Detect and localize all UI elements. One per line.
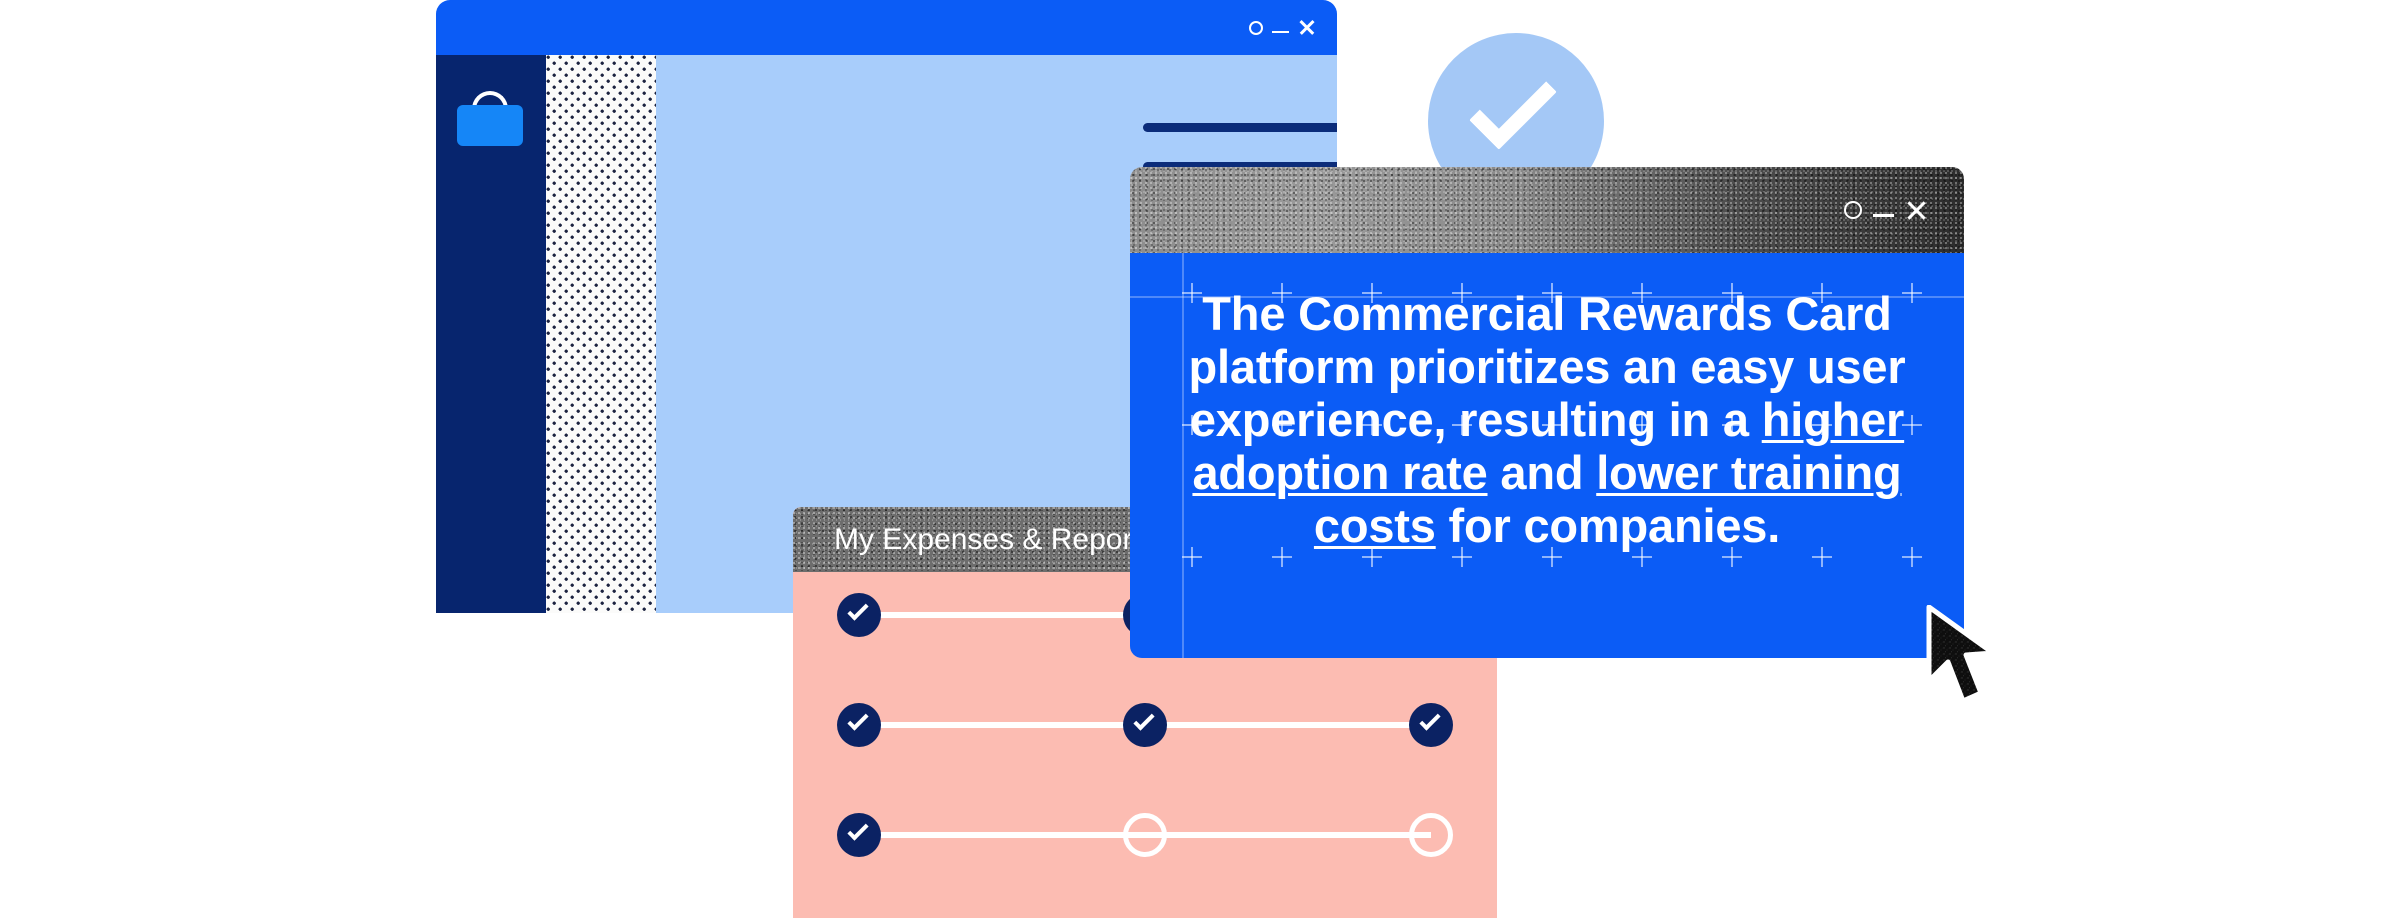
progress-step-checked[interactable] bbox=[837, 703, 881, 747]
promo-message-part-3: for companies. bbox=[1436, 499, 1780, 552]
back-window-sidebar[interactable] bbox=[436, 55, 546, 613]
back-window-titlebar[interactable] bbox=[436, 0, 1337, 55]
page-title: My Expenses & Reports bbox=[834, 507, 1156, 572]
promo-message-part-2: and bbox=[1488, 446, 1597, 499]
front-message-window[interactable]: The Commercial Rewards Card platform pri… bbox=[1130, 167, 1964, 658]
maximize-icon[interactable] bbox=[1844, 201, 1862, 219]
briefcase-icon[interactable] bbox=[457, 91, 523, 146]
check-glyph-icon bbox=[1469, 62, 1557, 150]
cursor-svg bbox=[1925, 605, 2009, 713]
check-icon bbox=[847, 599, 868, 620]
halftone-dot-pattern bbox=[546, 55, 656, 613]
front-window-titlebar[interactable] bbox=[1130, 167, 1964, 253]
heading-placeholder-line bbox=[1143, 123, 1337, 132]
front-window-controls[interactable] bbox=[1844, 167, 1926, 253]
progress-step-empty[interactable] bbox=[1409, 813, 1453, 857]
progress-step-checked[interactable] bbox=[1409, 703, 1453, 747]
minimize-icon[interactable] bbox=[1873, 214, 1894, 217]
check-icon bbox=[847, 709, 868, 730]
progress-step-empty[interactable] bbox=[1123, 813, 1167, 857]
back-window-controls[interactable] bbox=[1249, 0, 1315, 55]
minimize-icon[interactable] bbox=[1272, 31, 1289, 34]
check-icon bbox=[1133, 709, 1154, 730]
progress-row[interactable] bbox=[837, 813, 1453, 857]
check-icon bbox=[1419, 709, 1440, 730]
progress-step-checked[interactable] bbox=[1123, 703, 1167, 747]
maximize-icon[interactable] bbox=[1249, 21, 1263, 35]
mouse-pointer-icon bbox=[1925, 605, 2009, 713]
briefcase-body-icon bbox=[457, 105, 523, 146]
close-icon[interactable] bbox=[1298, 19, 1315, 36]
front-window-body: The Commercial Rewards Card platform pri… bbox=[1130, 253, 1964, 658]
check-icon bbox=[847, 819, 868, 840]
illustration-canvas: My Expenses & Reports bbox=[0, 0, 2400, 918]
promo-message: The Commercial Rewards Card platform pri… bbox=[1164, 287, 1930, 553]
cursor-arrow-shape bbox=[1929, 607, 1993, 701]
progress-row[interactable] bbox=[837, 703, 1453, 747]
progress-step-checked[interactable] bbox=[837, 813, 881, 857]
close-icon[interactable] bbox=[1905, 200, 1926, 221]
progress-step-checked[interactable] bbox=[837, 593, 881, 637]
